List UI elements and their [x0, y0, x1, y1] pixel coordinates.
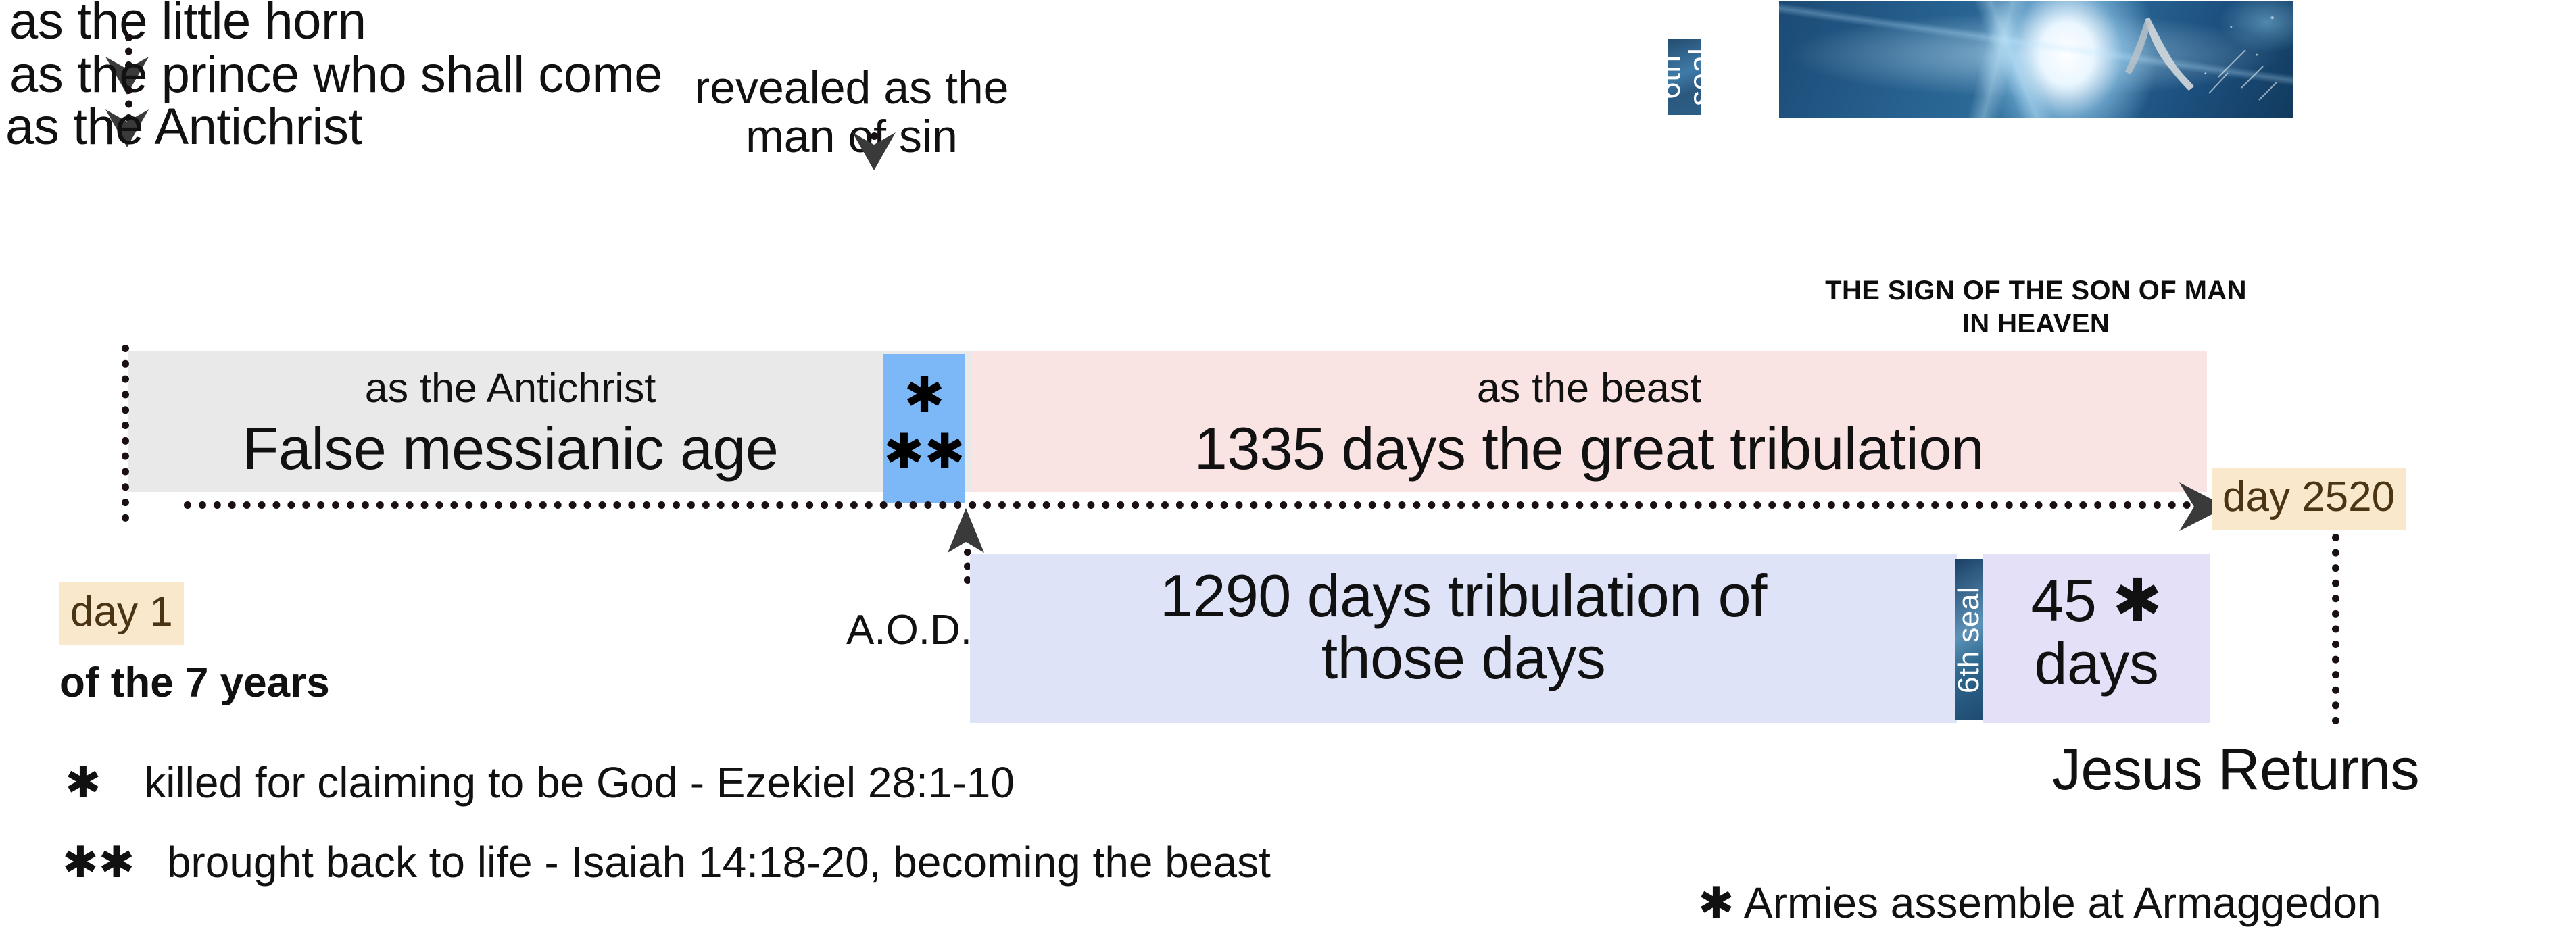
footnote-2-mark: ✱✱: [62, 838, 135, 888]
bar-label-45-line1: 45 ✱: [1983, 571, 2210, 630]
seal-badge-label: 6th seal: [1653, 39, 1716, 115]
seal-badge-lower-bar: 6th seal: [1955, 559, 1983, 720]
day-2520-chip: day 2520: [2212, 468, 2406, 530]
day1-vertical-dots: [122, 345, 129, 522]
label-little-horn: as the little horn: [9, 0, 366, 47]
bar-label-1290-line1: 1290 days tribulation of: [970, 566, 1957, 626]
callout-revealed-line1: revealed as the: [676, 65, 1027, 111]
arrow-down-icon-revealed: [850, 128, 898, 170]
footnote-1-mark: ✱: [65, 758, 101, 808]
footnote-1: ✱ killed for claiming to be God - Ezekie…: [65, 761, 1015, 805]
bar-label-1335-days: 1335 days the great tribulation: [971, 419, 2207, 478]
seal-badge-lower-label: 6th seal: [1954, 587, 1984, 693]
bar-label-as-the-antichrist: as the Antichrist: [142, 368, 879, 409]
day-1-chip: day 1: [59, 582, 184, 645]
footnote-3-text: Armies assemble at Armaggedon: [1744, 878, 2381, 927]
picture-caption-line2: IN HEAVEN: [1710, 307, 2362, 341]
footnote-2: ✱✱ brought back to life - Isaiah 14:18-2…: [62, 841, 1271, 885]
seal-badge-picture: 6th seal: [1668, 39, 1701, 115]
footnote-3: ✱ Armies assemble at Armaggedon: [1698, 881, 2381, 925]
footnote-1-text: killed for claiming to be God - Ezekiel …: [144, 758, 1015, 807]
bar-label-1290-line2: those days: [970, 628, 1957, 688]
day-1-label: day 1: [59, 582, 184, 645]
label-antichrist: as the Antichrist: [5, 101, 362, 153]
label-prince: as the prince who shall come: [9, 49, 662, 101]
day-1-sublabel: of the 7 years: [59, 662, 330, 704]
footnote-2-text: brought back to life - Isaiah 14:18-20, …: [167, 838, 1271, 887]
label-jesus-returns: Jesus Returns: [2052, 741, 2419, 799]
day-2520-label: day 2520: [2212, 468, 2406, 530]
timeline-dotted-axis: [184, 501, 2191, 509]
footnote-3-mark: ✱: [1698, 878, 1734, 928]
diagram-canvas: as the little horn as the prince who sha…: [0, 0, 2576, 946]
sign-of-son-of-man-image: [1779, 1, 2293, 118]
picture-caption-line1: THE SIGN OF THE SON OF MAN: [1710, 274, 2362, 307]
marker-star-single: ✱: [883, 370, 965, 419]
bar-label-false-messianic-age: False messianic age: [142, 419, 879, 478]
day2520-vertical-dots: [2332, 534, 2339, 724]
bar-label-45-line2: days: [1983, 634, 2210, 693]
marker-star-double: ✱✱: [883, 427, 965, 476]
bar-label-as-the-beast: as the beast: [971, 368, 2207, 409]
